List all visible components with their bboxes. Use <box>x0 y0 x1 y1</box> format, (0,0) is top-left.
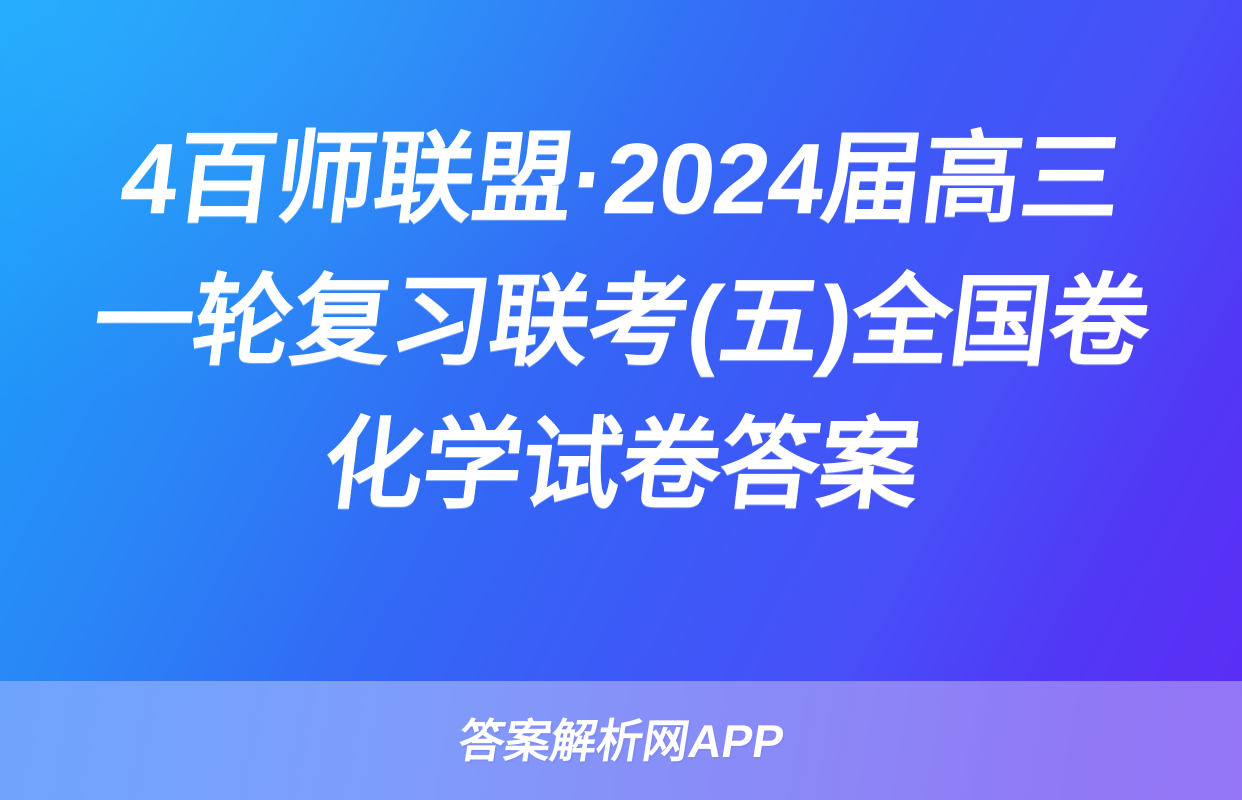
title-line-2: 一轮复习联考(五)全国卷 <box>85 251 1157 394</box>
footer-watermark-text: 答案解析网APP <box>455 715 788 767</box>
title-line-3: 化学试卷答案 <box>315 394 927 537</box>
page-title: 4百师联盟·2024届高三 一轮复习联考(五)全国卷 化学试卷答案 <box>0 0 1242 681</box>
poster-canvas: 4百师联盟·2024届高三 一轮复习联考(五)全国卷 化学试卷答案 答案解析网A… <box>0 0 1242 800</box>
footer-watermark-band: 答案解析网APP <box>0 681 1242 800</box>
title-line-1: 4百师联盟·2024届高三 <box>113 108 1129 251</box>
